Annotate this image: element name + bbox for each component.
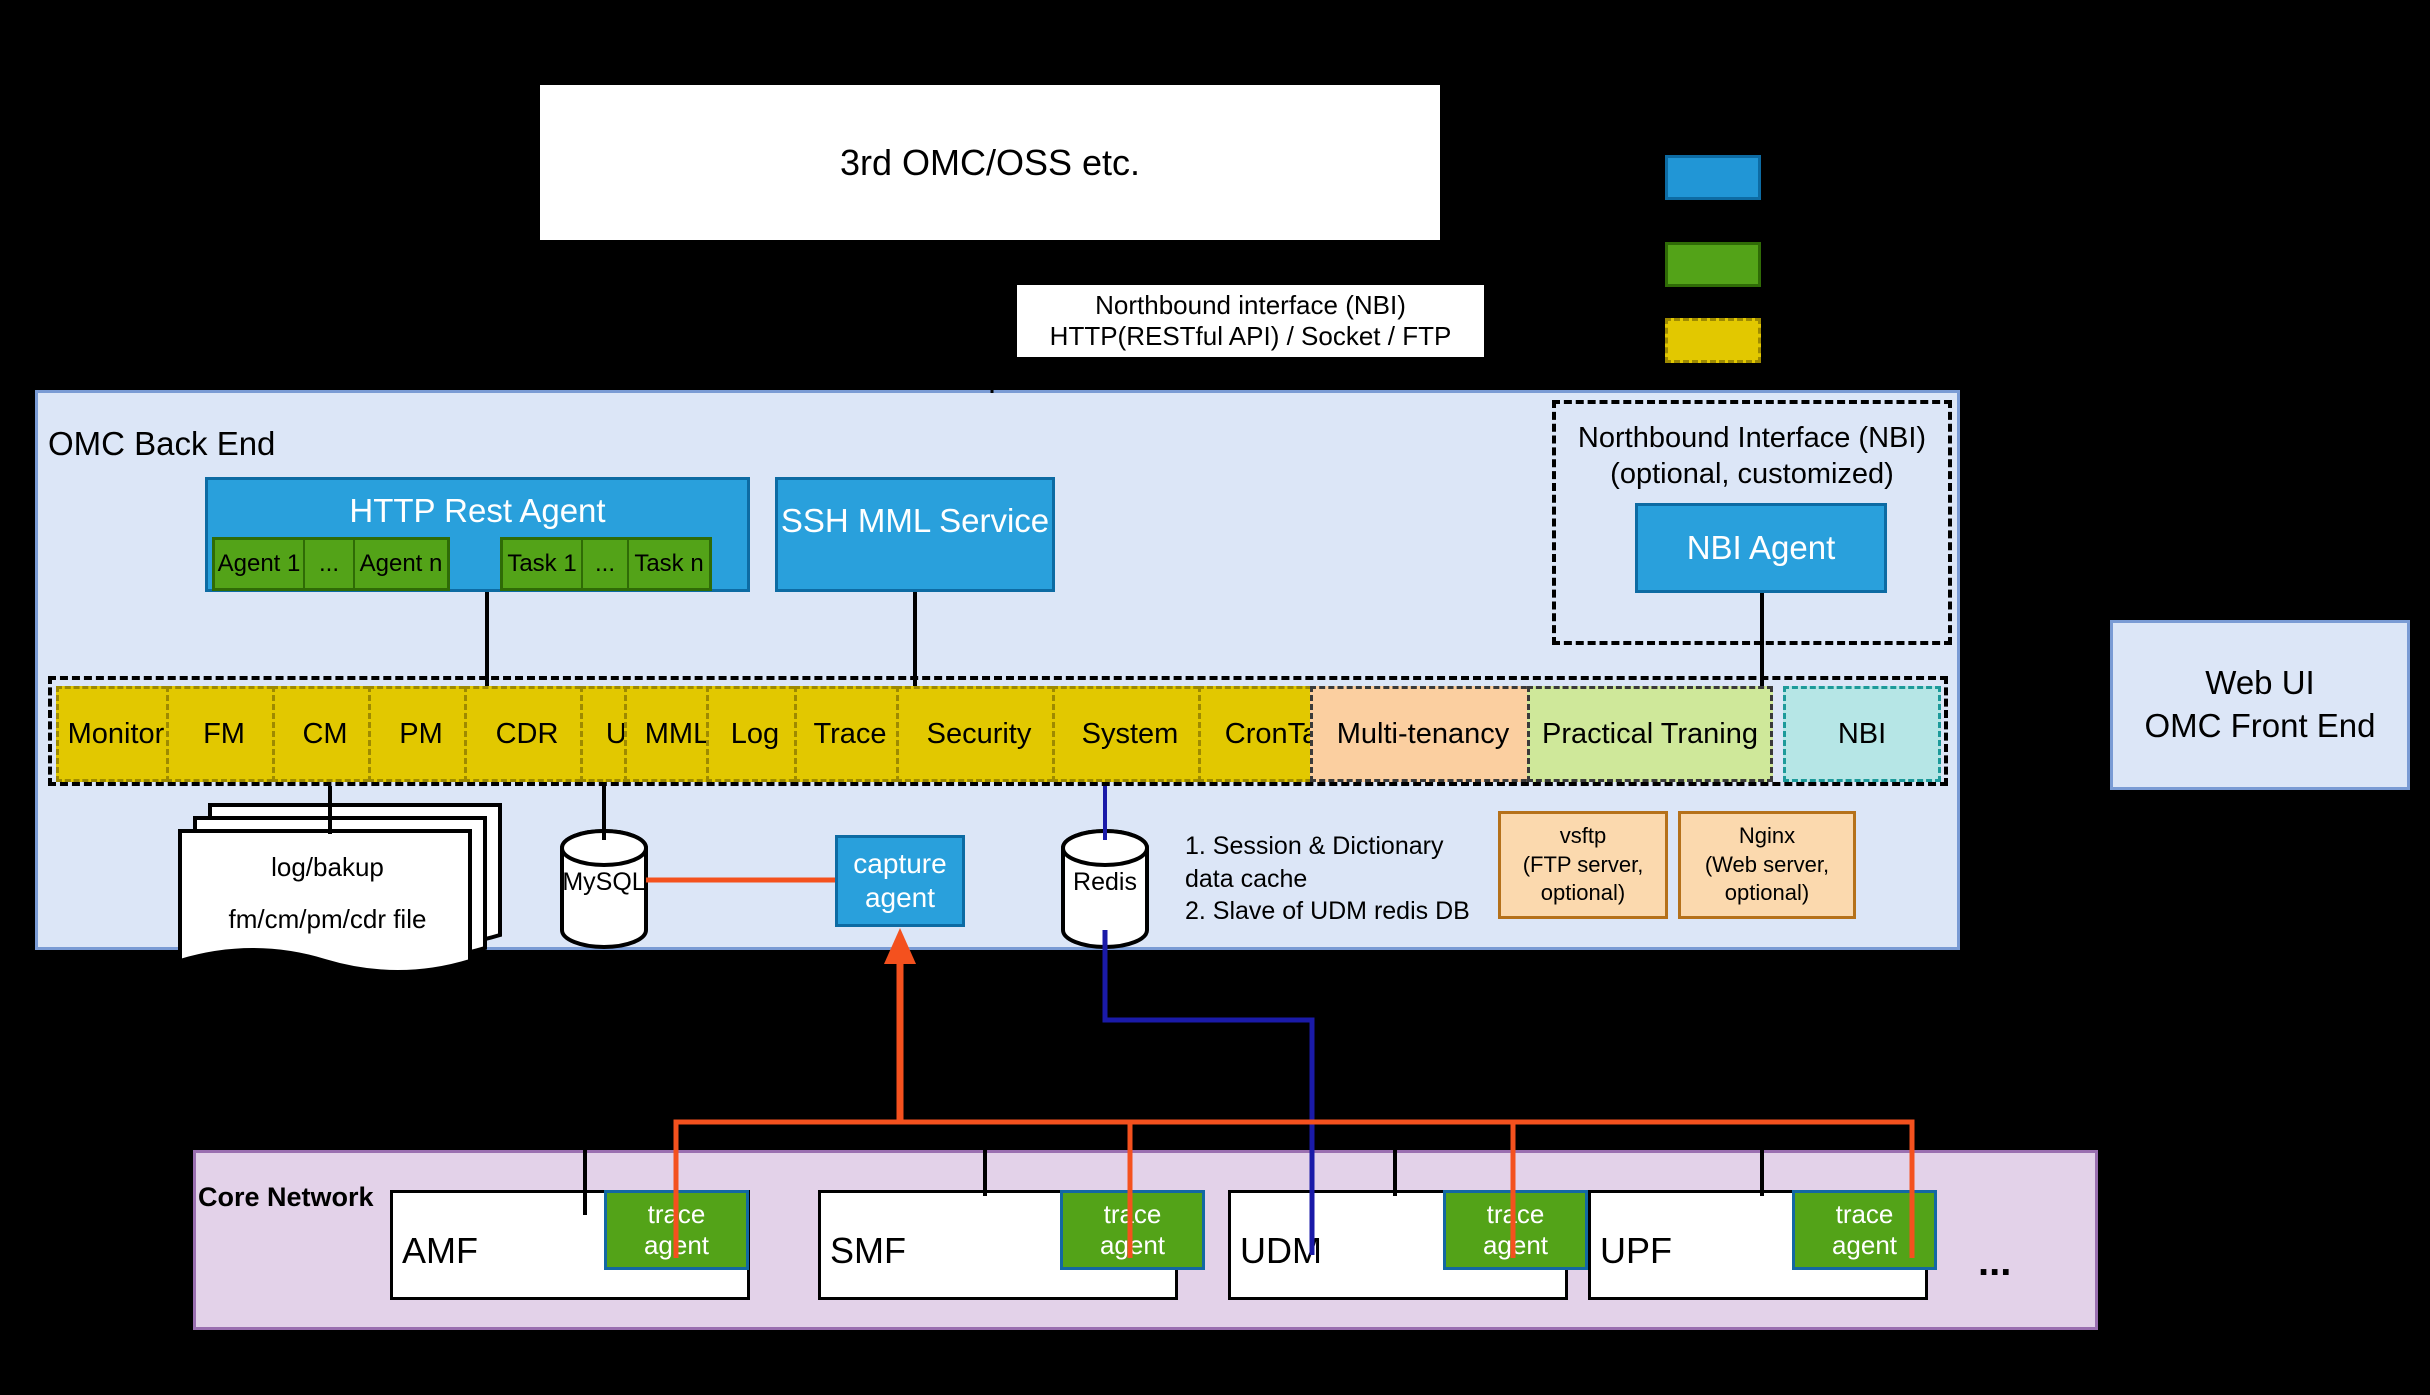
web-ui-line1: Web UI: [2205, 662, 2314, 705]
service-system[interactable]: System: [1052, 686, 1208, 782]
trace-agent-line2: agent: [644, 1230, 709, 1261]
agent-chip[interactable]: Agent n: [355, 540, 447, 588]
service-multi-tenancy[interactable]: Multi-tenancy: [1310, 686, 1536, 782]
vsftp-box: vsftp (FTP server, optional): [1498, 811, 1668, 919]
nf-label-amf: AMF: [402, 1230, 478, 1272]
nbi-agent-box[interactable]: NBI Agent: [1635, 503, 1887, 593]
file-store-line1: log/bakup: [271, 841, 384, 893]
nbi-protocol-line1: Northbound interface (NBI): [1095, 290, 1406, 321]
service-fm[interactable]: FM: [166, 686, 282, 782]
nginx-line2: (Web server,: [1705, 851, 1829, 880]
task-chip[interactable]: ...: [583, 540, 629, 588]
service-log[interactable]: Log: [706, 686, 804, 782]
nginx-line3: optional): [1725, 879, 1809, 908]
capture-agent-line2: agent: [865, 881, 935, 915]
vsftp-line1: vsftp: [1560, 822, 1606, 851]
nginx-box: Nginx (Web server, optional): [1678, 811, 1856, 919]
service-trace[interactable]: Trace: [794, 686, 906, 782]
task-chip[interactable]: Task 1: [503, 540, 583, 588]
capture-agent-line1: capture: [853, 847, 946, 881]
trace-agent-line1: trace: [648, 1199, 706, 1230]
service-nbi[interactable]: NBI: [1783, 686, 1941, 782]
third-party-omc-oss-box: 3rd OMC/OSS etc.: [540, 85, 1440, 240]
nbi-region-label: Northbound Interface (NBI) (optional, cu…: [1552, 420, 1952, 493]
trace-agent-line1: trace: [1836, 1199, 1894, 1230]
nbi-agent-label: NBI Agent: [1687, 529, 1836, 567]
agent-chip-group: Agent 1 ... Agent n: [212, 537, 450, 591]
service-security[interactable]: Security: [896, 686, 1062, 782]
trace-agent-line1: trace: [1104, 1199, 1162, 1230]
web-ui-line2: OMC Front End: [2144, 705, 2375, 748]
core-network-ellipsis: ...: [1978, 1240, 2038, 1280]
nf-label-upf: UPF: [1600, 1230, 1672, 1272]
vsftp-line3: optional): [1541, 879, 1625, 908]
ssh-mml-service-box[interactable]: SSH MML Service: [775, 477, 1055, 592]
trace-agent-amf[interactable]: trace agent: [604, 1190, 749, 1270]
capture-agent-box[interactable]: capture agent: [835, 835, 965, 927]
trace-agent-line1: trace: [1487, 1199, 1545, 1230]
redis-note: 1. Session & Dictionary data cache 2. Sl…: [1185, 830, 1515, 940]
redis-label: Redis: [1063, 862, 1147, 902]
trace-agent-udm[interactable]: trace agent: [1443, 1190, 1588, 1270]
file-store-label: log/bakup fm/cm/pm/cdr file: [185, 838, 470, 948]
nginx-line1: Nginx: [1739, 822, 1795, 851]
nbi-region-line1: Northbound Interface (NBI): [1552, 420, 1952, 456]
trace-agent-smf[interactable]: trace agent: [1060, 1190, 1205, 1270]
agent-chip[interactable]: Agent 1: [215, 540, 305, 588]
service-practical-training[interactable]: Practical Traning: [1527, 686, 1773, 782]
service-monitor[interactable]: Monitor: [56, 686, 176, 782]
file-store-line2: fm/cm/pm/cdr file: [229, 893, 427, 945]
legend-yellow-swatch: [1665, 318, 1761, 363]
trace-agent-upf[interactable]: trace agent: [1792, 1190, 1937, 1270]
legend-blue-swatch: [1665, 155, 1761, 200]
trace-agent-line2: agent: [1483, 1230, 1548, 1261]
nbi-protocol-label-box: Northbound interface (NBI) HTTP(RESTful …: [1017, 285, 1484, 357]
task-chip-group: Task 1 ... Task n: [500, 537, 712, 591]
nbi-protocol-line2: HTTP(RESTful API) / Socket / FTP: [1050, 321, 1452, 352]
service-cdr[interactable]: CDR: [464, 686, 590, 782]
service-pm[interactable]: PM: [368, 686, 474, 782]
web-ui-box[interactable]: Web UI OMC Front End: [2110, 620, 2410, 790]
mysql-label: MySQL: [562, 862, 646, 902]
trace-agent-line2: agent: [1100, 1230, 1165, 1261]
nbi-region-line2: (optional, customized): [1552, 456, 1952, 492]
ssh-mml-service-title: SSH MML Service: [778, 502, 1052, 540]
omc-backend-title: OMC Back End: [48, 425, 448, 465]
third-party-label: 3rd OMC/OSS etc.: [840, 142, 1140, 184]
trace-agent-line2: agent: [1832, 1230, 1897, 1261]
legend-green-swatch: [1665, 242, 1761, 287]
service-cm[interactable]: CM: [272, 686, 378, 782]
http-rest-agent-title: HTTP Rest Agent: [208, 492, 747, 530]
nf-label-smf: SMF: [830, 1230, 906, 1272]
vsftp-line2: (FTP server,: [1523, 851, 1644, 880]
agent-chip[interactable]: ...: [305, 540, 355, 588]
task-chip[interactable]: Task n: [629, 540, 709, 588]
nf-label-udm: UDM: [1240, 1230, 1322, 1272]
